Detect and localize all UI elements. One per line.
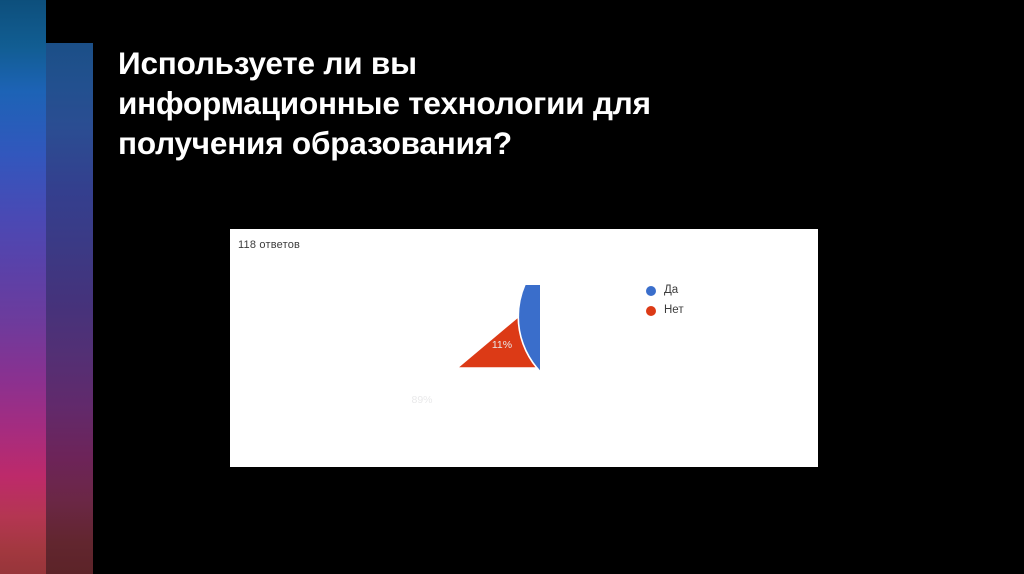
legend-item-da[interactable]: Да [646,282,684,299]
title-line-3: получения образования? [118,123,908,163]
title-line-2: информационные технологии для [118,83,908,123]
legend-label-net: Нет [664,305,684,317]
legend-swatch-icon-da [646,286,656,296]
page-title: Используете ли вы информационные техноло… [118,43,908,163]
gradient-bar-inner [46,43,93,574]
pie-label-net: 11% [492,339,512,351]
slide-canvas: Используете ли вы информационные техноло… [0,0,1024,574]
legend-label-da: Да [664,285,678,297]
chart-panel: 118 ответов 89% 11% Да Нет [230,229,818,467]
title-line-1: Используете ли вы [118,43,908,83]
pie-chart-svg: 89% 11% [374,285,540,451]
pie-chart: 89% 11% [374,285,540,451]
gradient-bar-outer [0,0,46,574]
legend-swatch-icon-net [646,306,656,316]
responses-count-label: 118 ответов [238,239,300,251]
pie-label-da: 89% [411,394,432,406]
chart-legend: Да Нет [646,282,684,322]
legend-item-net[interactable]: Нет [646,302,684,319]
